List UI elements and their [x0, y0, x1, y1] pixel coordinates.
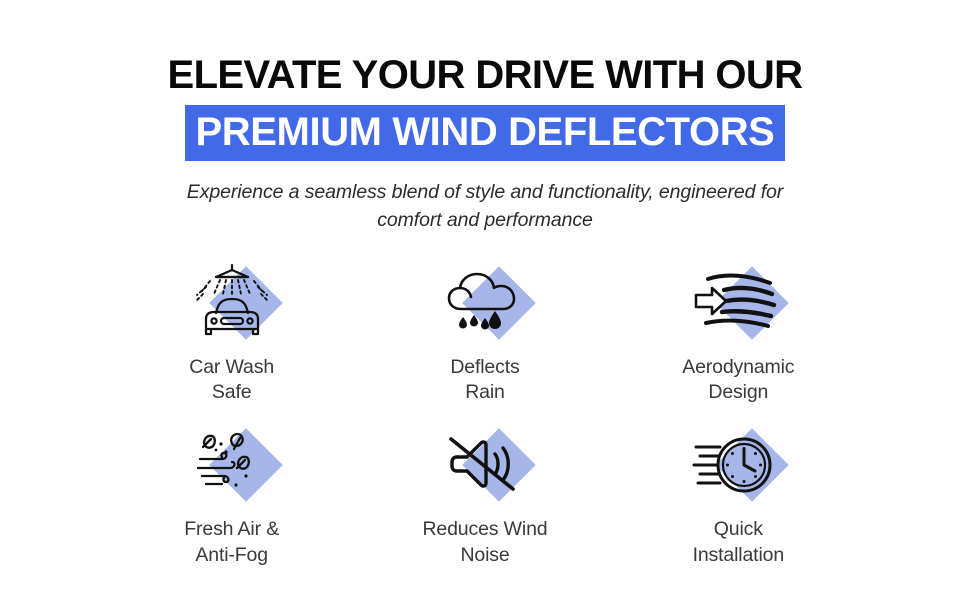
feature-icon-box	[180, 261, 284, 345]
feature-item: Aerodynamic Design	[612, 261, 865, 406]
feature-icon-box	[686, 423, 790, 507]
muted-speaker-icon	[433, 423, 537, 507]
headline-highlight-wrap: PREMIUM WIND DEFLECTORS	[0, 105, 970, 161]
promo-banner: ELEVATE YOUR DRIVE WITH OUR PREMIUM WIND…	[0, 0, 970, 600]
feature-label: Reduces Wind Noise	[422, 517, 547, 568]
feature-label: Fresh Air & Anti-Fog	[184, 517, 279, 568]
banner-header: ELEVATE YOUR DRIVE WITH OUR PREMIUM WIND…	[0, 0, 970, 235]
feature-label: Aerodynamic Design	[682, 355, 794, 406]
headline-primary: ELEVATE YOUR DRIVE WITH OUR	[0, 54, 970, 97]
feature-icon-box	[180, 423, 284, 507]
feature-grid: Car Wash Safe	[105, 261, 865, 568]
subheadline: Experience a seamless blend of style and…	[185, 179, 785, 234]
feature-icon-box	[433, 261, 537, 345]
car-wash-icon	[180, 261, 284, 345]
feature-item: Reduces Wind Noise	[358, 423, 611, 568]
rain-cloud-icon	[433, 261, 537, 345]
feature-item: Quick Installation	[612, 423, 865, 568]
feature-item: Deflects Rain	[358, 261, 611, 406]
feature-label: Car Wash Safe	[189, 355, 274, 406]
fast-clock-icon	[686, 423, 790, 507]
feature-label: Quick Installation	[693, 517, 784, 568]
feature-icon-box	[433, 423, 537, 507]
airflow-arrow-icon	[686, 261, 790, 345]
feature-label: Deflects Rain	[450, 355, 519, 406]
feature-icon-box	[686, 261, 790, 345]
headline-highlight: PREMIUM WIND DEFLECTORS	[185, 105, 786, 161]
fresh-air-leaves-icon	[180, 423, 284, 507]
feature-item: Car Wash Safe	[105, 261, 358, 406]
feature-item: Fresh Air & Anti-Fog	[105, 423, 358, 568]
